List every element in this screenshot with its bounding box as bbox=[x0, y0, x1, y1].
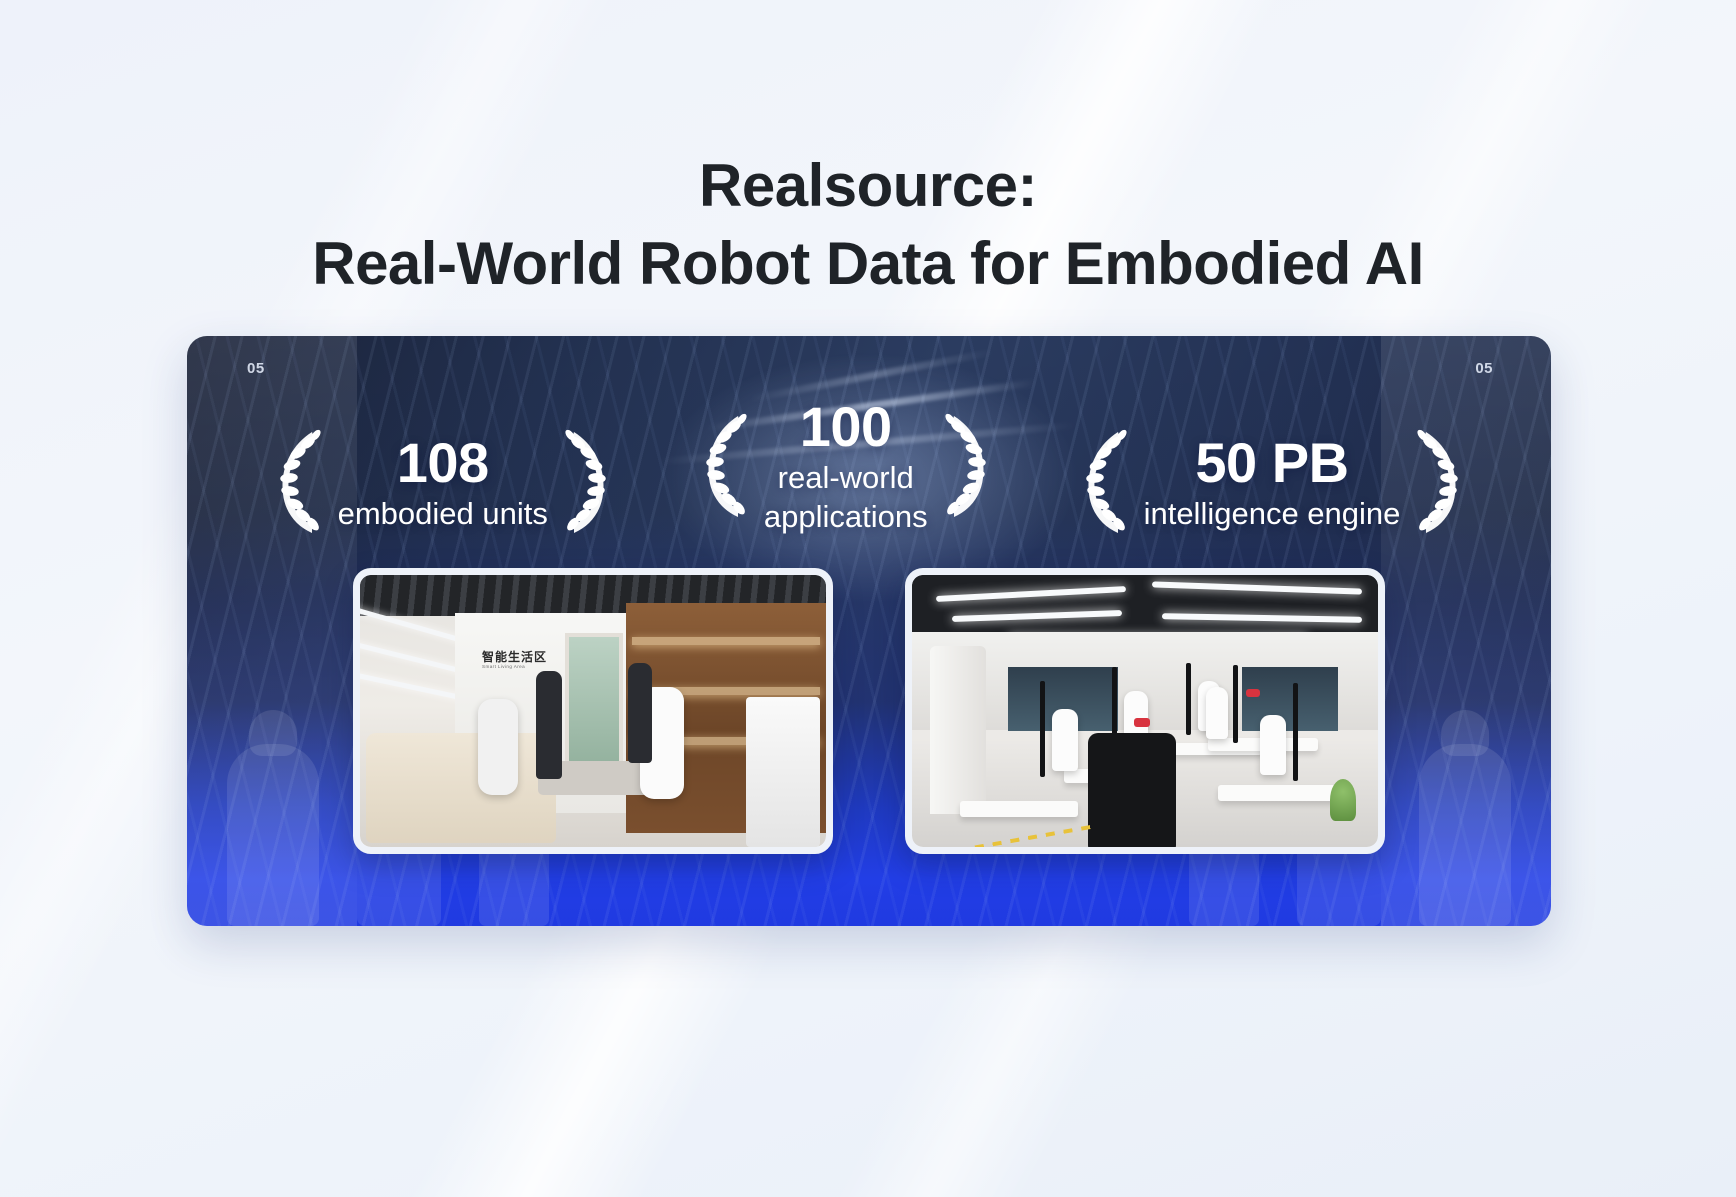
stat-text-block: 50 PB intelligence engine bbox=[1140, 432, 1405, 533]
robot-id-left: 05 bbox=[247, 360, 265, 377]
robot-id-right: 05 bbox=[1475, 360, 1493, 377]
shelf-light-strip bbox=[632, 637, 820, 645]
photo-content-living: 智能生活区 Smart Living Area bbox=[360, 575, 826, 847]
appliance-cabinet bbox=[746, 697, 820, 847]
laurel-wreath-icon bbox=[272, 426, 328, 538]
stat-item-embodied-units: 108 embodied units bbox=[272, 426, 614, 538]
laurel-wreath-icon bbox=[698, 410, 754, 522]
window-panel bbox=[1242, 667, 1338, 731]
wall-sign-english: Smart Living Area bbox=[482, 665, 547, 670]
stat-label: intelligence engine bbox=[1144, 494, 1401, 533]
title-line-2: Real-World Robot Data for Embodied AI bbox=[0, 224, 1736, 304]
stat-value: 100 bbox=[764, 396, 928, 458]
title-line-1: Realsource: bbox=[0, 148, 1736, 224]
ceiling-structure bbox=[912, 575, 1378, 632]
page-title: Realsource: Real-World Robot Data for Em… bbox=[0, 148, 1736, 304]
camera-rig bbox=[1293, 683, 1298, 781]
stats-row: 108 embodied units bbox=[187, 380, 1551, 538]
foreground-camera-rig bbox=[1088, 733, 1176, 847]
work-bench bbox=[960, 801, 1078, 817]
floor-marking bbox=[975, 825, 1094, 847]
stat-value: 50 PB bbox=[1144, 432, 1401, 494]
training-lab-scene bbox=[912, 575, 1378, 847]
stat-value: 108 bbox=[338, 432, 548, 494]
stat-label: embodied units bbox=[338, 494, 548, 533]
camera-rig bbox=[1040, 681, 1045, 777]
sofa bbox=[366, 733, 556, 843]
wall-sign-chinese: 智能生活区 bbox=[482, 651, 547, 663]
hero-panel: 05 05 bbox=[187, 336, 1551, 926]
person-figure bbox=[536, 671, 562, 779]
laurel-wreath-icon bbox=[938, 410, 994, 522]
pillar bbox=[930, 646, 986, 814]
person-figure bbox=[628, 663, 652, 763]
humanoid-robot bbox=[478, 699, 518, 795]
stat-text-block: 100 real-world applications bbox=[760, 396, 932, 536]
laurel-wreath-icon bbox=[1410, 426, 1466, 538]
living-room-scene: 智能生活区 Smart Living Area bbox=[360, 575, 826, 847]
photo-card-row: 智能生活区 Smart Living Area bbox=[187, 568, 1551, 854]
robot-training-lab-photo[interactable] bbox=[905, 568, 1385, 854]
smart-living-area-photo[interactable]: 智能生活区 Smart Living Area bbox=[353, 568, 833, 854]
humanoid-robot bbox=[1206, 687, 1228, 739]
camera-rig bbox=[1233, 665, 1238, 743]
potted-plant bbox=[1330, 779, 1356, 821]
poster-root: Realsource: Real-World Robot Data for Em… bbox=[0, 0, 1736, 1197]
stat-label: real-world applications bbox=[764, 458, 928, 536]
stat-item-real-world-applications: 100 real-world applications bbox=[698, 396, 994, 536]
photo-content-lab bbox=[912, 575, 1378, 847]
red-object bbox=[1246, 689, 1260, 697]
camera-rig bbox=[1186, 663, 1191, 735]
stat-text-block: 108 embodied units bbox=[334, 432, 552, 533]
wall-sign: 智能生活区 Smart Living Area bbox=[482, 651, 547, 670]
red-object bbox=[1134, 718, 1150, 727]
humanoid-robot bbox=[1260, 715, 1286, 775]
work-bench bbox=[1218, 785, 1348, 801]
laurel-wreath-icon bbox=[1078, 426, 1134, 538]
stat-item-intelligence-engine: 50 PB intelligence engine bbox=[1078, 426, 1467, 538]
laurel-wreath-icon bbox=[558, 426, 614, 538]
humanoid-robot bbox=[1052, 709, 1078, 771]
